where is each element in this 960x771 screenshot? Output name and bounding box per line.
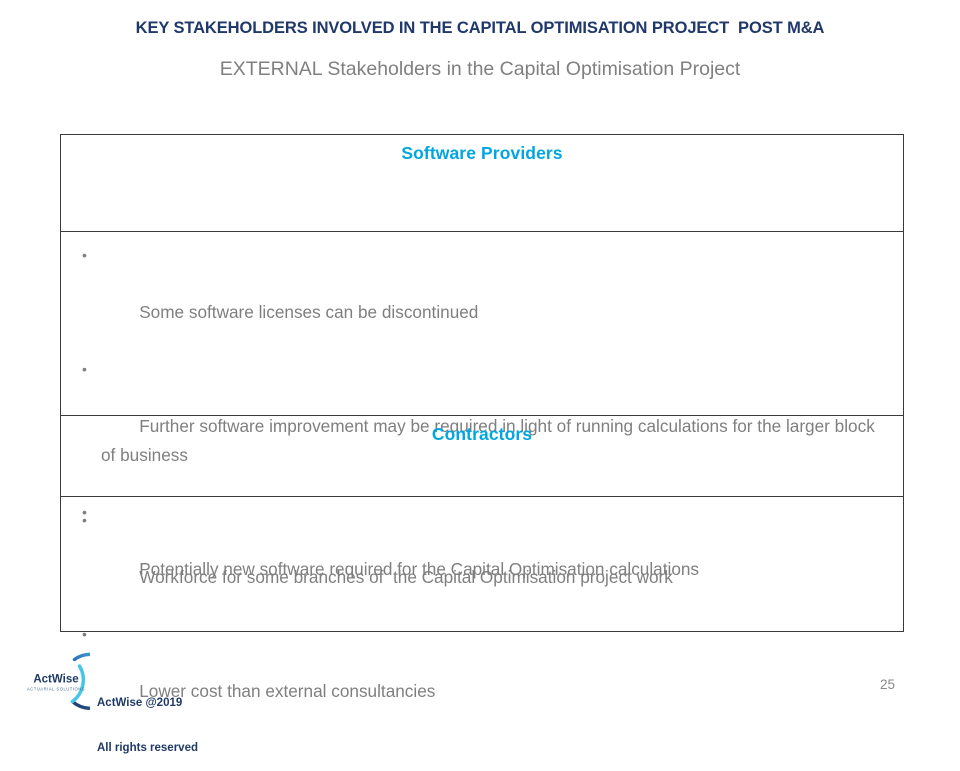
- page-title: KEY STAKEHOLDERS INVOLVED IN THE CAPITAL…: [0, 19, 960, 38]
- table-row-body-software-providers: • Some software licenses can be disconti…: [61, 232, 903, 416]
- bullet-icon: •: [82, 241, 87, 270]
- list-item: • Workforce for some branches of the Cap…: [73, 506, 891, 620]
- list-item: • Some software licenses can be disconti…: [73, 241, 891, 355]
- page-subtitle: EXTERNAL Stakeholders in the Capital Opt…: [0, 58, 960, 81]
- copyright-line-1: ActWise @2019: [97, 696, 198, 711]
- table-row-body-contractors: • Workforce for some branches of the Cap…: [61, 497, 903, 630]
- list-item-text: Some software licenses can be discontinu…: [139, 302, 478, 322]
- copyright-line-2: All rights reserved: [97, 741, 198, 756]
- page-number: 25: [880, 677, 895, 692]
- list-item-text: Workforce for some branches of the Capit…: [139, 567, 673, 587]
- bullet-icon: •: [82, 506, 87, 535]
- actwise-logo-icon: ActWise ACTUARIAL SOLUTIONS: [22, 646, 90, 714]
- table-row-heading-software-providers: Software Providers: [61, 135, 903, 232]
- stakeholders-table: Software Providers • Some software licen…: [60, 134, 904, 632]
- section-heading-contractors: Contractors: [61, 416, 903, 445]
- copyright-notice: ActWise @2019 All rights reserved: [97, 666, 198, 771]
- section-heading-software-providers: Software Providers: [61, 135, 903, 164]
- svg-text:ACTUARIAL SOLUTIONS: ACTUARIAL SOLUTIONS: [27, 687, 85, 692]
- bullet-icon: •: [82, 355, 87, 384]
- bullet-icon: •: [82, 620, 87, 649]
- svg-text:ActWise: ActWise: [33, 674, 78, 686]
- table-row-heading-contractors: Contractors: [61, 416, 903, 497]
